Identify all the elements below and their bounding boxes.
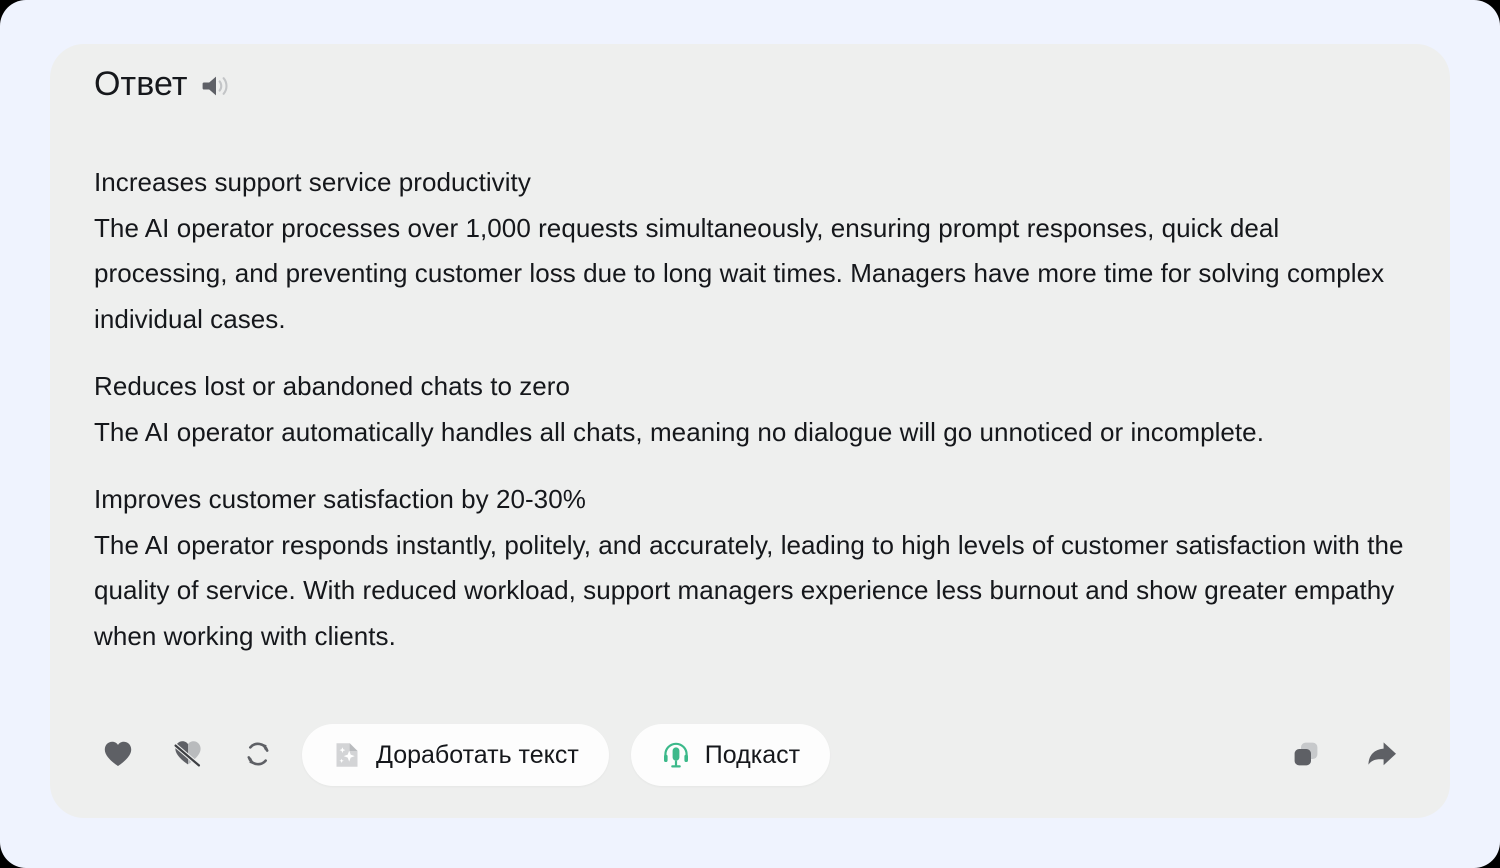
share-arrow-icon bbox=[1366, 739, 1398, 772]
section-heading: Increases support service productivity bbox=[94, 160, 1408, 206]
feedback-icon-group bbox=[94, 731, 282, 779]
section-heading: Reduces lost or abandoned chats to zero bbox=[94, 364, 1408, 410]
refine-text-label: Доработать текст bbox=[376, 743, 579, 768]
sparkle-document-icon bbox=[332, 740, 362, 770]
podcast-microphone-icon bbox=[661, 740, 691, 770]
answer-section: Increases support service productivity T… bbox=[94, 160, 1408, 342]
share-icon-group bbox=[1282, 731, 1406, 779]
podcast-label: Подкаст bbox=[705, 743, 800, 768]
podcast-button[interactable]: Подкаст bbox=[631, 724, 830, 786]
like-button[interactable] bbox=[94, 731, 142, 779]
answer-card: Ответ Increases support service producti… bbox=[50, 44, 1450, 818]
refine-text-button[interactable]: Доработать текст bbox=[302, 724, 609, 786]
page-title: Ответ bbox=[94, 64, 188, 104]
copy-button[interactable] bbox=[1282, 731, 1330, 779]
regenerate-button[interactable] bbox=[234, 731, 282, 779]
answer-body: Increases support service productivity T… bbox=[94, 160, 1408, 659]
section-text: The AI operator responds instantly, poli… bbox=[94, 523, 1408, 660]
section-text: The AI operator processes over 1,000 req… bbox=[94, 206, 1408, 343]
page-root: Ответ Increases support service producti… bbox=[0, 0, 1500, 868]
pill-button-group: Доработать текст Подкаст bbox=[302, 724, 830, 786]
share-button[interactable] bbox=[1358, 731, 1406, 779]
action-bar: Доработать текст Подкаст bbox=[94, 724, 1406, 786]
dislike-button[interactable] bbox=[164, 731, 212, 779]
refresh-icon bbox=[243, 739, 273, 772]
copy-icon bbox=[1291, 739, 1321, 772]
section-text: The AI operator automatically handles al… bbox=[94, 410, 1408, 456]
section-heading: Improves customer satisfaction by 20-30% bbox=[94, 477, 1408, 523]
heart-slash-icon bbox=[173, 739, 203, 772]
answer-section: Improves customer satisfaction by 20-30%… bbox=[94, 477, 1408, 659]
speaker-wave-icon[interactable] bbox=[202, 69, 232, 99]
heart-icon bbox=[103, 740, 133, 771]
card-header: Ответ bbox=[94, 64, 232, 104]
answer-section: Reduces lost or abandoned chats to zero … bbox=[94, 364, 1408, 455]
